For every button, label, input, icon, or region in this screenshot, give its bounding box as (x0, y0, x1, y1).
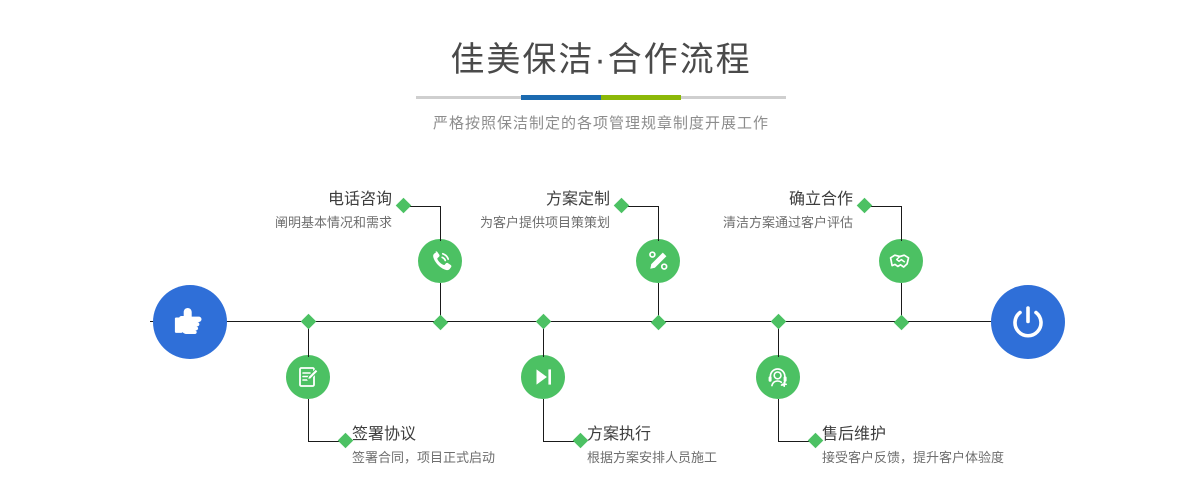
step-5-stem (901, 206, 902, 241)
step-6-label: 售后维护 接受客户反馈，提升客户体验度 (822, 424, 1004, 468)
document-pencil-icon (295, 364, 321, 390)
pencil-compass-icon (645, 248, 671, 274)
process-flow-infographic: 佳美保洁·合作流程 严格按照保洁制定的各项管理规章制度开展工作 (0, 0, 1202, 502)
headset-add-icon (765, 364, 791, 390)
step-2-label: 签署协议 签署合同，项目正式启动 (352, 424, 495, 468)
handshake-icon (888, 248, 914, 274)
timeline-end-node (991, 285, 1065, 359)
step-3-desc: 为客户提供项目策策划 (395, 213, 610, 233)
step-6-desc: 接受客户反馈，提升客户体验度 (822, 448, 1004, 468)
step-5-diamond (857, 198, 873, 214)
step-4-axis-diamond (536, 314, 552, 330)
step-2-diamond (338, 433, 354, 449)
step-4-desc: 根据方案安排人员施工 (587, 448, 717, 468)
step-6-axis-diamond (771, 314, 787, 330)
play-forward-icon (530, 364, 556, 390)
step-5-icon-node (879, 239, 923, 283)
step-1-icon-node (418, 239, 462, 283)
step-1-label: 电话咨询 阐明基本情况和需求 (150, 189, 392, 233)
step-2-axis-diamond (301, 314, 317, 330)
phone-call-icon (427, 248, 453, 274)
step-3-axis-diamond (651, 315, 667, 331)
step-5-desc: 清洁方案通过客户评估 (638, 213, 853, 233)
step-5-axis-diamond (894, 315, 910, 331)
step-3-icon-node (636, 239, 680, 283)
step-5-label: 确立合作 清洁方案通过客户评估 (638, 189, 853, 233)
step-4-label: 方案执行 根据方案安排人员施工 (587, 424, 717, 468)
step-6-title: 售后维护 (822, 424, 1004, 446)
step-2-title: 签署协议 (352, 424, 495, 446)
step-5-title: 确立合作 (638, 189, 853, 211)
step-4-title: 方案执行 (587, 424, 717, 446)
step-6-diamond (808, 433, 824, 449)
step-4-diamond (573, 433, 589, 449)
timeline-axis (150, 321, 1052, 322)
step-4-stem (543, 399, 544, 441)
step-6-stem (778, 399, 779, 441)
step-2-icon-node (286, 355, 330, 399)
step-3-title: 方案定制 (395, 189, 610, 211)
step-3-diamond (614, 198, 630, 214)
step-1-axis-diamond (433, 315, 449, 331)
power-icon (1007, 301, 1049, 343)
step-2-stem (308, 399, 309, 441)
pointing-hand-icon (170, 302, 210, 342)
step-1-title: 电话咨询 (150, 189, 392, 211)
step-6-icon-node (756, 355, 800, 399)
timeline-start-node (153, 285, 227, 359)
step-3-label: 方案定制 为客户提供项目策策划 (395, 189, 610, 233)
step-1-desc: 阐明基本情况和需求 (150, 213, 392, 233)
step-2-desc: 签署合同，项目正式启动 (352, 448, 495, 468)
step-4-icon-node (521, 355, 565, 399)
timeline: 电话咨询 阐明基本情况和需求 签署协议 签署合同，项目正式启动 (0, 0, 1202, 502)
